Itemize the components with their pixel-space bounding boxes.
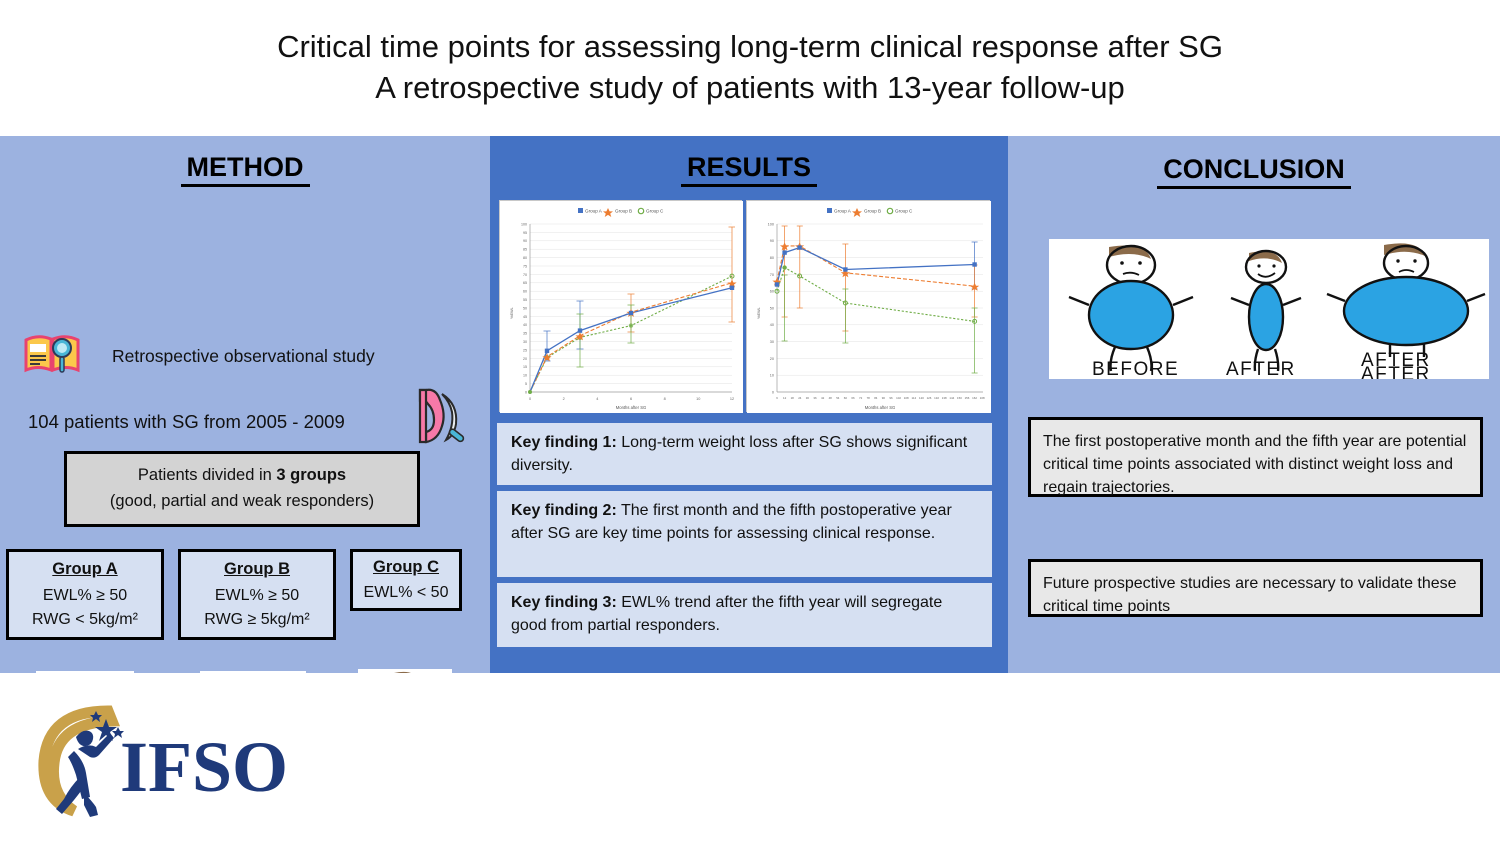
svg-text:100: 100	[521, 222, 527, 226]
group-b-criterion-2: RWG ≥ 5kg/m²	[204, 608, 309, 632]
svg-text:12: 12	[783, 396, 787, 400]
svg-text:108: 108	[904, 396, 909, 400]
key-finding-2-label: Key finding 2:	[511, 502, 617, 519]
method-line-1: Retrospective observational study	[112, 346, 375, 367]
svg-text:126: 126	[927, 396, 932, 400]
svg-text:10: 10	[696, 397, 700, 401]
svg-text:Group A: Group A	[834, 209, 852, 214]
svg-text:25: 25	[523, 348, 527, 352]
svg-text:162: 162	[972, 396, 977, 400]
after-label: AFTER	[1226, 359, 1296, 379]
svg-text:70: 70	[523, 273, 527, 277]
poster-body: METHOD Retrospective observational study…	[0, 136, 1500, 673]
svg-text:144: 144	[949, 396, 954, 400]
method-panel: METHOD Retrospective observational study…	[0, 136, 490, 673]
title-line-2: A retrospective study of patients with 1…	[375, 68, 1125, 109]
svg-text:70: 70	[770, 273, 774, 277]
svg-text:8: 8	[664, 397, 666, 401]
svg-text:48: 48	[829, 396, 833, 400]
group-a-criterion-1: EWL% ≥ 50	[43, 584, 127, 608]
svg-text:66: 66	[851, 396, 855, 400]
ifso-wordmark: IFSO	[120, 727, 288, 807]
svg-text:138: 138	[942, 396, 947, 400]
svg-text:6: 6	[630, 397, 632, 401]
svg-text:Group C: Group C	[895, 209, 913, 214]
ewl-longterm-chart: Group A Group B Group C	[747, 201, 991, 413]
svg-text:5: 5	[525, 382, 527, 386]
group-b-title: Group B	[224, 557, 290, 582]
svg-text:%EWL: %EWL	[757, 307, 761, 319]
after-after-label-2: AFTER	[1361, 364, 1431, 379]
svg-text:18: 18	[791, 396, 795, 400]
group-b-criterion-1: EWL% ≥ 50	[215, 584, 299, 608]
conclusion-box-2: Future prospective studies are necessary…	[1028, 559, 1483, 617]
svg-text:0: 0	[525, 390, 527, 394]
chart-card-longterm[interactable]: Group A Group B Group C	[746, 200, 990, 412]
svg-text:10: 10	[770, 374, 774, 378]
svg-text:0: 0	[772, 390, 774, 394]
group-a-criterion-2: RWG < 5kg/m²	[32, 608, 138, 632]
svg-text:Months after SG: Months after SG	[865, 405, 896, 410]
poster-title: Critical time points for assessing long-…	[0, 0, 1500, 136]
key-finding-1-label: Key finding 1:	[511, 434, 617, 451]
svg-text:114: 114	[911, 396, 916, 400]
svg-text:50: 50	[770, 306, 774, 310]
book-magnifier-icon	[24, 332, 80, 374]
svg-text:150: 150	[957, 396, 962, 400]
svg-text:75: 75	[523, 264, 527, 268]
svg-text:168: 168	[980, 396, 985, 400]
svg-text:60: 60	[844, 396, 848, 400]
svg-text:95: 95	[523, 231, 527, 235]
svg-text:54: 54	[836, 396, 840, 400]
svg-text:120: 120	[919, 396, 924, 400]
svg-text:85: 85	[523, 248, 527, 252]
svg-text:50: 50	[523, 306, 527, 310]
svg-text:2: 2	[563, 397, 565, 401]
ewl-early-chart: Group A Group B Group C	[500, 201, 743, 413]
svg-text:24: 24	[798, 396, 802, 400]
svg-text:90: 90	[882, 396, 886, 400]
title-line-1: Critical time points for assessing long-…	[277, 27, 1223, 68]
svg-text:40: 40	[523, 323, 527, 327]
svg-text:55: 55	[523, 298, 527, 302]
results-heading: RESULTS	[490, 152, 1008, 183]
svg-text:Group B: Group B	[615, 209, 632, 214]
svg-text:20: 20	[770, 357, 774, 361]
svg-text:96: 96	[889, 396, 893, 400]
conclusion-heading-text: CONCLUSION	[1157, 154, 1351, 189]
svg-text:15: 15	[523, 365, 527, 369]
svg-text:12: 12	[730, 397, 734, 401]
svg-text:100: 100	[768, 222, 774, 226]
svg-text:30: 30	[806, 396, 810, 400]
method-heading: METHOD	[0, 152, 490, 183]
svg-text:90: 90	[523, 239, 527, 243]
svg-text:30: 30	[523, 340, 527, 344]
key-finding-1: Key finding 1: Long-term weight loss aft…	[497, 423, 992, 485]
svg-text:40: 40	[770, 323, 774, 327]
svg-text:45: 45	[523, 315, 527, 319]
svg-text:Group B: Group B	[864, 209, 881, 214]
svg-text:Months after SG: Months after SG	[616, 405, 647, 410]
svg-text:%EWL: %EWL	[510, 307, 514, 319]
group-box-a: Group A EWL% ≥ 50 RWG < 5kg/m²	[6, 549, 164, 640]
svg-text:156: 156	[965, 396, 970, 400]
svg-text:0: 0	[529, 397, 531, 401]
conclusion-panel: CONCLUSION BEFORE	[1008, 136, 1500, 673]
results-panel: RESULTS Group A Group B Group C	[490, 136, 1008, 673]
groups-summary-prefix: Patients divided in	[138, 466, 277, 484]
svg-text:60: 60	[523, 290, 527, 294]
svg-text:4: 4	[596, 397, 598, 401]
svg-text:84: 84	[874, 396, 878, 400]
svg-text:20: 20	[523, 357, 527, 361]
before-after-illustration: BEFORE AFTER	[1049, 239, 1489, 379]
conclusion-box-1: The first postoperative month and the fi…	[1028, 417, 1483, 497]
key-finding-3: Key finding 3: EWL% trend after the fift…	[497, 583, 992, 647]
svg-text:60: 60	[770, 290, 774, 294]
method-line-2: 104 patients with SG from 2005 - 2009	[28, 411, 345, 433]
results-heading-text: RESULTS	[681, 152, 817, 187]
groups-summary-line-1: Patients divided in 3 groups	[138, 463, 346, 489]
group-box-b: Group B EWL% ≥ 50 RWG ≥ 5kg/m²	[178, 549, 336, 640]
svg-text:35: 35	[523, 332, 527, 336]
svg-text:30: 30	[770, 340, 774, 344]
poster-root: Critical time points for assessing long-…	[0, 0, 1500, 844]
group-a-title: Group A	[52, 557, 117, 582]
svg-text:Group A: Group A	[585, 209, 603, 214]
group-box-c: Group C EWL% < 50	[350, 549, 462, 611]
svg-text:36: 36	[813, 396, 817, 400]
groups-summary-bold: 3 groups	[276, 466, 346, 484]
group-c-criterion-1: EWL% < 50	[364, 581, 449, 605]
ifso-logo[interactable]: IFSO	[22, 695, 304, 817]
svg-text:80: 80	[770, 256, 774, 260]
svg-text:90: 90	[770, 239, 774, 243]
key-finding-2: Key finding 2: The first month and the f…	[497, 491, 992, 577]
chart-card-early[interactable]: Group A Group B Group C	[499, 200, 742, 412]
svg-text:65: 65	[523, 281, 527, 285]
svg-text:80: 80	[523, 256, 527, 260]
svg-text:72: 72	[859, 396, 863, 400]
conclusion-heading: CONCLUSION	[1008, 154, 1500, 185]
before-label: BEFORE	[1092, 359, 1179, 379]
svg-text:78: 78	[867, 396, 871, 400]
svg-text:102: 102	[896, 396, 901, 400]
stomach-surgery-icon	[406, 386, 474, 450]
svg-text:Group C: Group C	[646, 209, 664, 214]
poster-footer: IFSO (Please keep this space clear for r…	[0, 673, 1500, 844]
svg-text:10: 10	[523, 374, 527, 378]
key-finding-3-label: Key finding 3:	[511, 594, 617, 611]
groups-summary-box: Patients divided in 3 groups (good, part…	[64, 451, 420, 527]
method-heading-text: METHOD	[181, 152, 310, 187]
groups-summary-line-2: (good, partial and weak responders)	[110, 489, 374, 515]
group-c-title: Group C	[373, 555, 439, 580]
svg-text:132: 132	[934, 396, 939, 400]
svg-text:42: 42	[821, 396, 825, 400]
